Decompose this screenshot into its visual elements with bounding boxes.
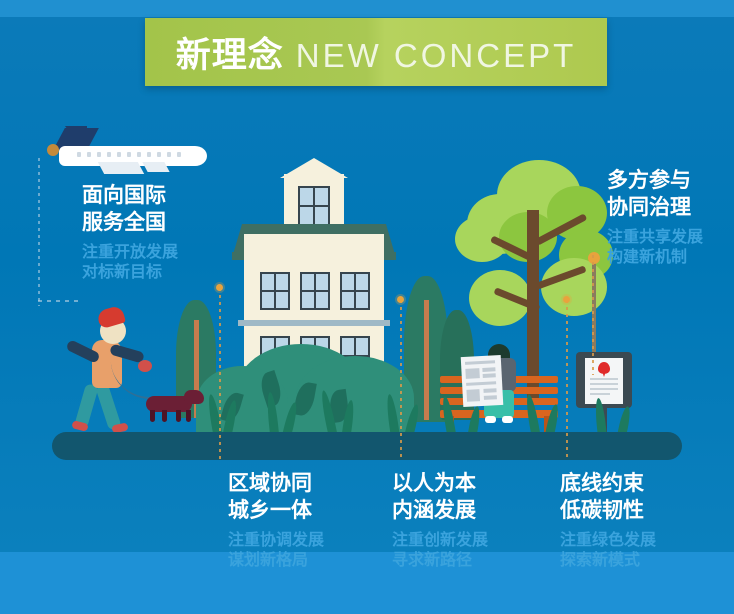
label-region-sub-line1: 注重协调发展 [228,530,324,550]
banner-title-chinese: 新理念 [176,27,284,78]
ground-bar [52,432,682,460]
label-multi-title-line1: 多方参与 [607,167,703,194]
label-intl-sub-line2: 对标新目标 [82,262,178,282]
connector-line-multi [592,255,594,375]
label-green-sub-line1: 注重绿色发展 [560,530,656,550]
background-band-top [0,0,734,17]
label-block-people: 以人为本 内涵发展 注重创新发展 寻求新路径 [392,470,488,570]
connector-dot-green [563,296,570,303]
label-block-region: 区域协同 城乡一体 注重协调发展 谋划新格局 [228,470,324,570]
label-intl-title-line1: 面向国际 [82,182,178,209]
label-people-title-line1: 以人为本 [392,470,488,497]
connector-line-intl [38,158,40,306]
banner-title-english: NEW CONCEPT [296,37,577,75]
label-block-green: 底线约束 低碳韧性 注重绿色发展 探索新模式 [560,470,656,570]
label-intl-sub-line1: 注重开放发展 [82,242,178,262]
infographic-canvas: 新理念 NEW CONCEPT [0,0,734,614]
connector-line-people [400,300,402,460]
connector-line-region [219,288,221,460]
connector-dot-people [397,296,404,303]
label-green-title-line2: 低碳韧性 [560,497,656,524]
label-multi-sub-line2: 构建新机制 [607,247,703,267]
label-region-title-line2: 城乡一体 [228,497,324,524]
label-region-title-line1: 区域协同 [228,470,324,497]
label-multi-title-line2: 协同治理 [607,194,703,221]
airplane-icon [25,128,205,174]
connector-line-green [566,300,568,460]
label-green-title-line1: 底线约束 [560,470,656,497]
label-green-sub-line2: 探索新模式 [560,550,656,570]
street-lamp-head [588,252,600,264]
map-pin-icon [598,362,610,374]
label-block-multi: 多方参与 协同治理 注重共享发展 构建新机制 [607,167,703,267]
title-banner: 新理念 NEW CONCEPT [145,18,607,86]
connector-line-intl-horizontal [38,300,82,302]
label-intl-title-line2: 服务全国 [82,209,178,236]
label-region-sub-line2: 谋划新格局 [228,550,324,570]
label-multi-sub-line1: 注重共享发展 [607,227,703,247]
label-people-sub-line1: 注重创新发展 [392,530,488,550]
label-people-title-line2: 内涵发展 [392,497,488,524]
label-block-intl: 面向国际 服务全国 注重开放发展 对标新目标 [82,182,178,282]
connector-dot-region [216,284,223,291]
label-people-sub-line2: 寻求新路径 [392,550,488,570]
